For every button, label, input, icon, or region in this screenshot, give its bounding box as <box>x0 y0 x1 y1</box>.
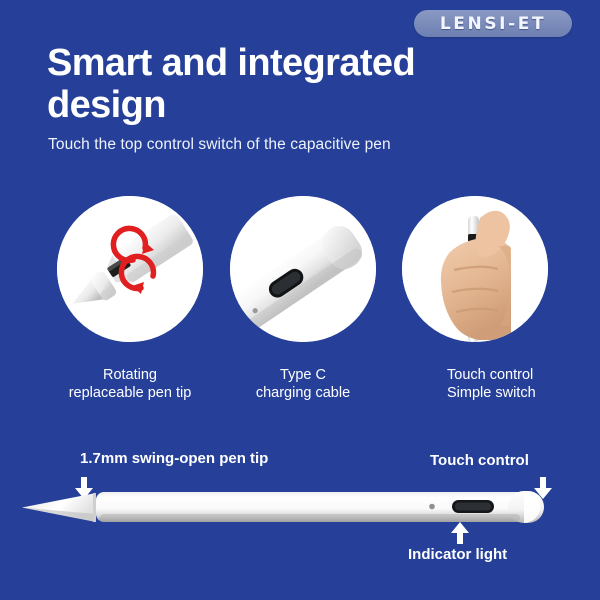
caption-line-1: Type C <box>196 366 410 384</box>
brand-logo-badge: LENSI-ET <box>414 10 572 37</box>
brand-logo-text: LENSI-ET <box>440 14 546 34</box>
feature-caption-touch-control: Touch control Simple switch <box>447 366 597 402</box>
headline-line-2: design <box>47 84 547 126</box>
page-title: Smart and integrated design <box>47 42 547 126</box>
feature-image-rotating-pen-tip <box>57 196 203 342</box>
page-subtitle: Touch the top control switch of the capa… <box>48 136 568 154</box>
product-diagram-stylus-pen <box>0 470 600 545</box>
annotation-label-touch-control: Touch control <box>430 452 529 469</box>
feature-caption-type-c-charging: Type C charging cable <box>196 366 410 402</box>
caption-line-2: charging cable <box>196 384 410 402</box>
annotation-label-pen-tip: 1.7mm swing-open pen tip <box>80 450 268 467</box>
feature-image-touch-control <box>402 196 548 342</box>
caption-line-2: Simple switch <box>447 384 597 402</box>
feature-image-type-c-charging <box>230 196 376 342</box>
product-banner: LENSI-ET Smart and integrated design Tou… <box>0 0 600 600</box>
headline-line-1: Smart and integrated <box>47 42 547 84</box>
caption-line-1: Touch control <box>447 366 597 384</box>
annotation-label-indicator-light: Indicator light <box>408 546 507 563</box>
